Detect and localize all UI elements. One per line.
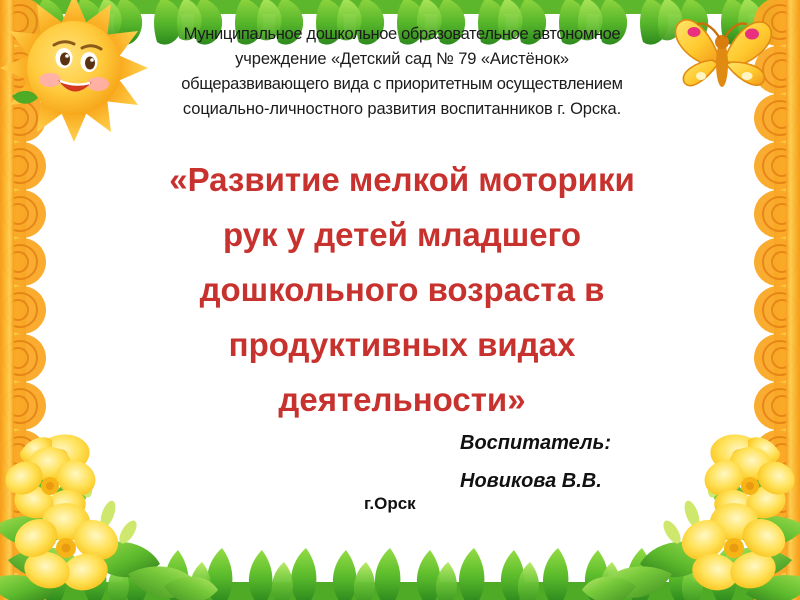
title-line-4: продуктивных видах bbox=[104, 317, 700, 372]
byline-name: Новикова В.В. bbox=[434, 462, 734, 500]
presentation-slide: Муниципальное дошкольное образовательное… bbox=[0, 0, 800, 600]
organization-name: Муниципальное дошкольное образовательное… bbox=[122, 22, 682, 122]
author-byline: Воспитатель: Новикова В.В. bbox=[434, 424, 734, 500]
byline-role: Воспитатель: bbox=[434, 424, 734, 462]
title-line-2: рук у детей младшего bbox=[104, 207, 700, 262]
organization-line-4: социально-личностного развития воспитанн… bbox=[122, 97, 682, 122]
title-line-1: «Развитие мелкой моторики bbox=[104, 152, 700, 207]
organization-line-3: общеразвивающего вида с приоритетным осу… bbox=[122, 72, 682, 97]
organization-line-1: Муниципальное дошкольное образовательное… bbox=[122, 22, 682, 47]
butterfly-icon bbox=[668, 8, 778, 112]
title-line-5: деятельности» bbox=[104, 372, 700, 427]
organization-line-2: учреждение «Детский сад № 79 «Аистёнок» bbox=[122, 47, 682, 72]
page-title: «Развитие мелкой моторики рук у детей мл… bbox=[104, 152, 700, 427]
flower-cluster-bottom-left bbox=[0, 410, 218, 600]
title-line-3: дошкольного возраста в bbox=[104, 262, 700, 317]
city-label: г.Орск bbox=[364, 494, 416, 514]
